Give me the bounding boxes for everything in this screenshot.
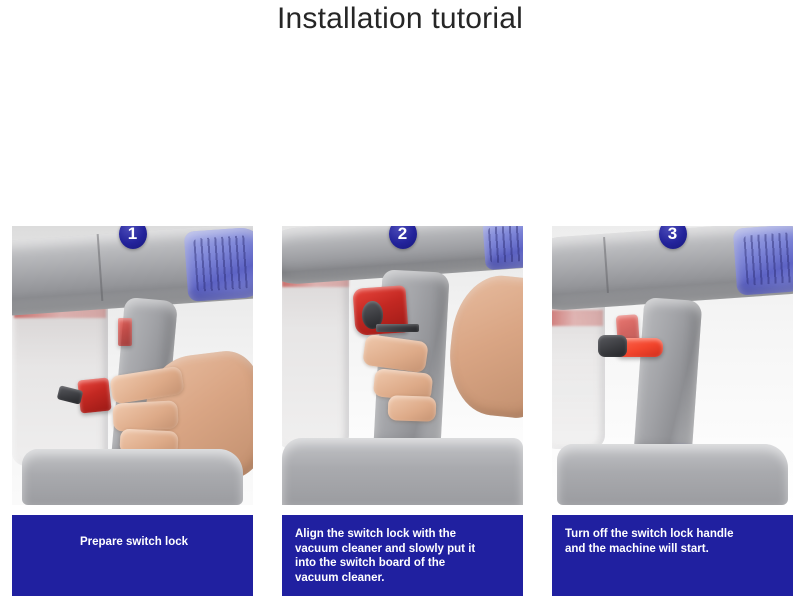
step-card-3: 3 Turn off the switch lock handle and th… bbox=[552, 226, 793, 605]
caption-line: and the machine will start. bbox=[565, 542, 783, 557]
vacuum-base bbox=[282, 438, 523, 505]
thumb bbox=[388, 395, 437, 422]
caption-line: vacuum cleaner. bbox=[295, 571, 513, 586]
middle-finger bbox=[113, 400, 179, 431]
trigger-red-accent bbox=[118, 318, 132, 346]
caption-line: into the switch board of the bbox=[295, 556, 513, 571]
step-3-caption: Turn off the switch lock handle and the … bbox=[552, 515, 793, 596]
blue-cap-fins bbox=[488, 226, 523, 264]
switch-lock-red-part bbox=[78, 378, 113, 415]
vacuum-base bbox=[557, 444, 788, 505]
step-card-1: 1 Prepare switch lock bbox=[12, 226, 253, 605]
step-1-caption: Prepare switch lock bbox=[12, 515, 253, 596]
blue-cap-fins bbox=[193, 235, 250, 292]
page-title: Installation tutorial bbox=[0, 0, 800, 38]
step-3-photo: 3 bbox=[552, 226, 793, 505]
dust-bin-band bbox=[552, 310, 603, 327]
caption-line: Align the switch lock with the bbox=[295, 527, 513, 542]
blue-cap-fins bbox=[743, 233, 793, 286]
caption-line: Prepare switch lock bbox=[25, 535, 243, 550]
caption-line: vacuum cleaner and slowly put it bbox=[295, 542, 513, 557]
vacuum-handle bbox=[633, 297, 702, 457]
switch-lock-blade bbox=[376, 324, 419, 332]
step-1-photo: 1 bbox=[12, 226, 253, 505]
step-card-2: 2 Align the switch lock with the vacuum … bbox=[282, 226, 523, 605]
vacuum-base bbox=[22, 449, 244, 505]
step-2-photo: 2 bbox=[282, 226, 523, 505]
steps-row: 1 Prepare switch lock 2 Align the swi bbox=[0, 226, 800, 605]
caption-line: Turn off the switch lock handle bbox=[565, 527, 783, 542]
step-2-caption: Align the switch lock with the vacuum cl… bbox=[282, 515, 523, 596]
switch-lock-dark-tab bbox=[598, 335, 627, 357]
